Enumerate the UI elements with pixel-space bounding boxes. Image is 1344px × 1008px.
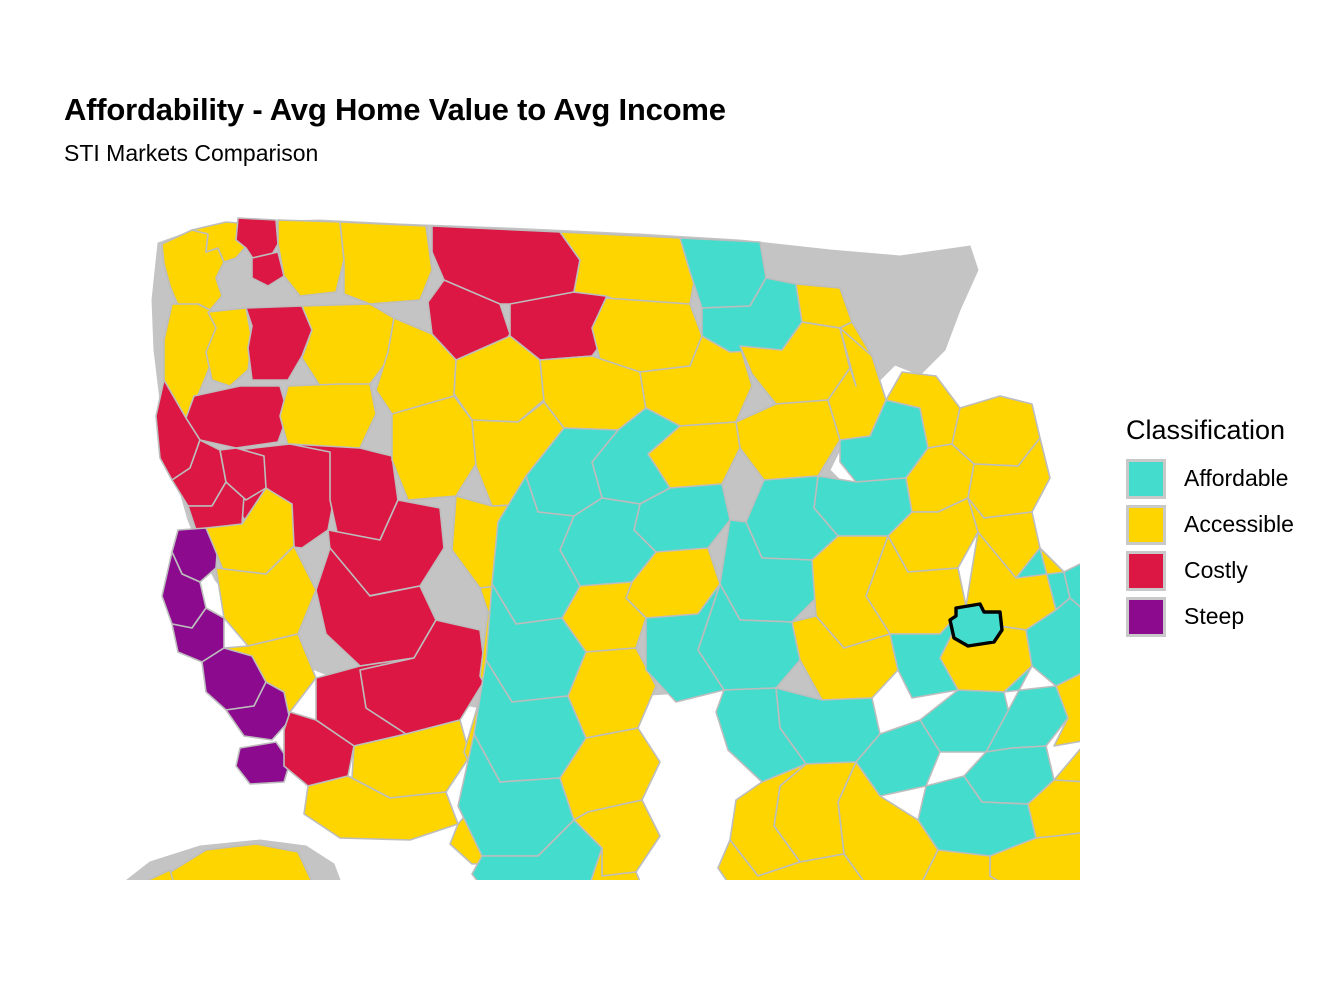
title-block: Affordability - Avg Home Value to Avg In… <box>64 92 1064 167</box>
inset-alaska[interactable] <box>88 840 346 880</box>
legend-swatch-affordable <box>1126 459 1166 499</box>
legend-item-affordable[interactable]: Affordable <box>1126 456 1336 502</box>
page-title: Affordability - Avg Home Value to Avg In… <box>64 92 1064 129</box>
legend-item-steep[interactable]: Steep <box>1126 594 1336 640</box>
choropleth-map[interactable]: .cty { stroke: #BDBDBD; stroke-width: 1.… <box>40 200 1080 880</box>
legend: Classification Affordable Accessible Cos… <box>1126 416 1336 640</box>
legend-swatch-steep <box>1126 597 1166 637</box>
legend-label-affordable: Affordable <box>1184 465 1288 492</box>
legend-title: Classification <box>1126 416 1336 446</box>
legend-item-costly[interactable]: Costly <box>1126 548 1336 594</box>
page-subtitle: STI Markets Comparison <box>64 139 1064 168</box>
legend-swatch-accessible <box>1126 505 1166 545</box>
affordability-map-page: Affordability - Avg Home Value to Avg In… <box>0 0 1344 1008</box>
legend-label-costly: Costly <box>1184 557 1248 584</box>
legend-item-accessible[interactable]: Accessible <box>1126 502 1336 548</box>
legend-label-steep: Steep <box>1184 603 1244 630</box>
legend-swatch-costly <box>1126 551 1166 591</box>
us-map-svg[interactable]: .cty { stroke: #BDBDBD; stroke-width: 1.… <box>40 200 1080 880</box>
legend-label-accessible: Accessible <box>1184 511 1294 538</box>
